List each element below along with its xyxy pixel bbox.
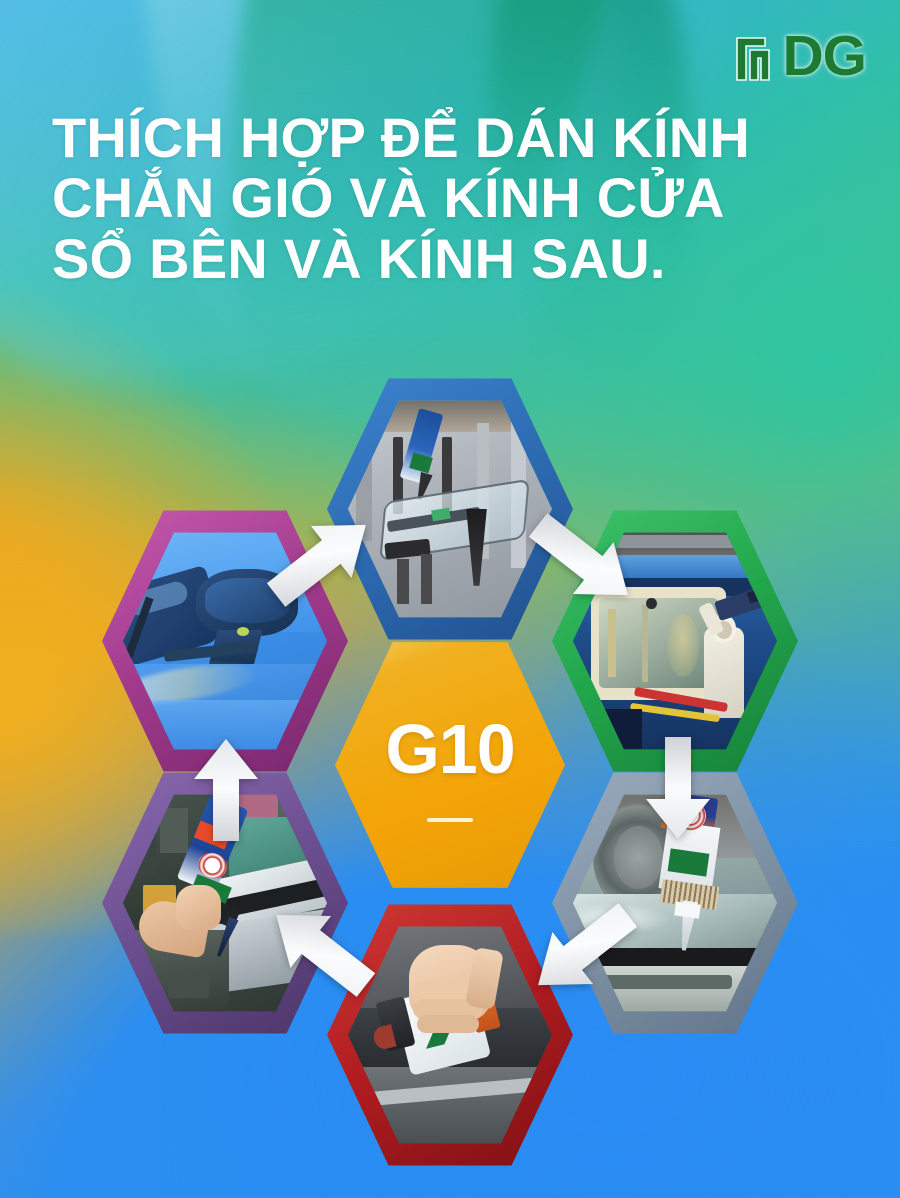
brand-logo-text: DG xyxy=(783,28,867,85)
arrow-top-right-to-bottom-right-icon xyxy=(640,733,716,845)
dg-bracket-mark-icon xyxy=(735,32,779,82)
center-node-divider xyxy=(427,818,473,822)
center-node-label: G10 xyxy=(385,714,514,784)
headline-line-3: SỔ BÊN VÀ KÍNH SAU. xyxy=(52,229,812,289)
headline-line-2: CHẮN GIÓ VÀ KÍNH CỬA xyxy=(52,168,812,228)
center-node-g10[interactable]: G10 xyxy=(335,637,565,893)
hexagon-process-diagram: G10 xyxy=(0,355,900,1175)
arrow-top-to-top-right-icon xyxy=(518,505,648,615)
page-title: THÍCH HỢP ĐỂ DÁN KÍNH CHẮN GIÓ VÀ KÍNH C… xyxy=(52,108,812,289)
arrow-bottom-to-bottom-left-icon xyxy=(256,895,386,1005)
headline-line-1: THÍCH HỢP ĐỂ DÁN KÍNH xyxy=(52,108,812,168)
arrow-bottom-left-to-top-left-icon xyxy=(188,733,264,845)
arrow-bottom-right-to-bottom-icon xyxy=(518,895,648,1005)
arrow-top-left-to-top-icon xyxy=(256,505,386,615)
brand-logo: DG xyxy=(735,28,867,85)
